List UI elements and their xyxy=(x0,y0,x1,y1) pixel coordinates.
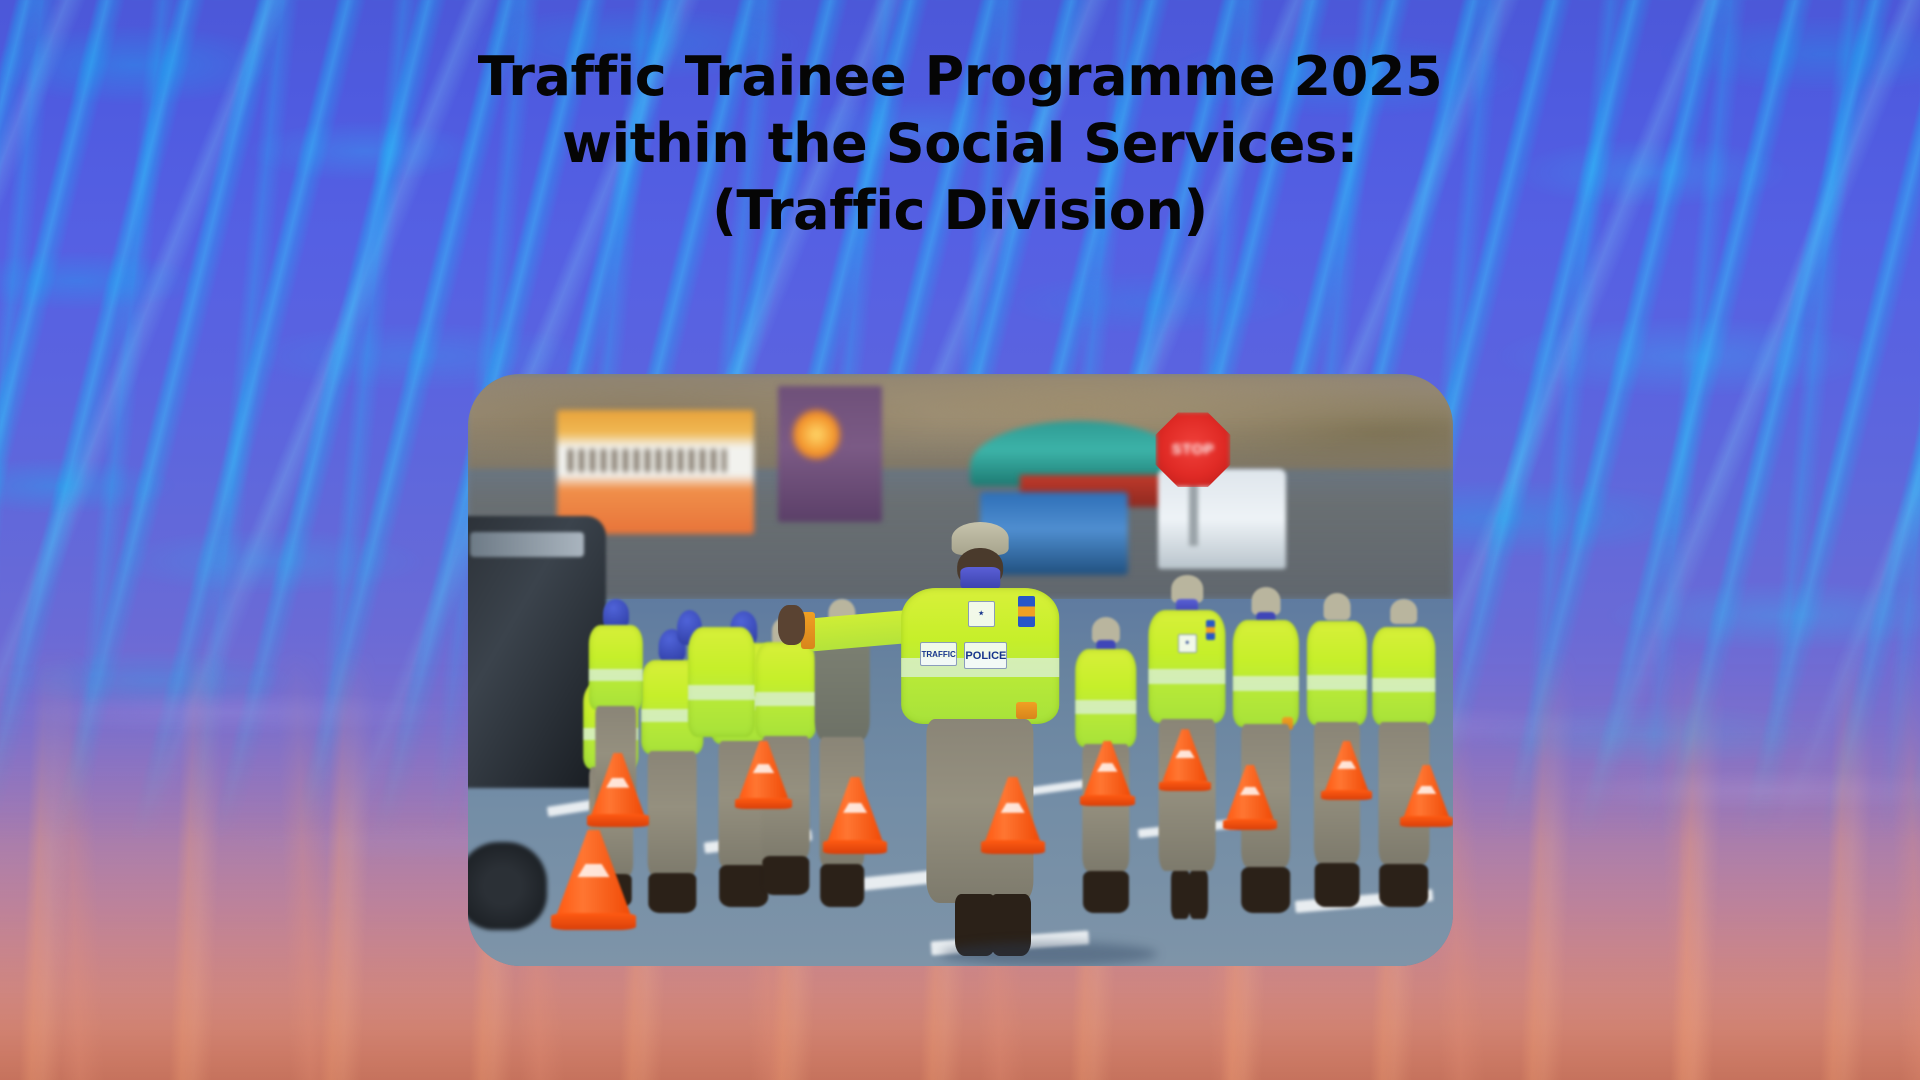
title-line-3: (Traffic Division) xyxy=(0,178,1920,245)
boots xyxy=(762,856,809,895)
vest-badge: ★ xyxy=(1178,634,1197,653)
boots xyxy=(1083,871,1129,912)
hi-vis-vest xyxy=(755,642,816,739)
traffic-cone xyxy=(1404,765,1449,827)
traffic-cone xyxy=(591,753,644,827)
pointing-hand xyxy=(778,605,805,644)
cone-base xyxy=(1400,816,1453,827)
foreground-traffic-officer: ★ POLICE TRAFFIC xyxy=(901,522,1059,960)
cone-base xyxy=(1223,819,1278,830)
traffic-cone xyxy=(828,777,883,854)
boots xyxy=(649,873,696,913)
cone-base xyxy=(1080,795,1135,806)
hi-vis-vest xyxy=(1075,649,1136,747)
cone-base xyxy=(587,814,649,827)
traffic-cone xyxy=(1084,741,1131,806)
poster-title: Traffic Trainee Programme 2025 within th… xyxy=(0,44,1920,245)
vest-label-police: POLICE xyxy=(964,642,1007,668)
car-tire xyxy=(468,842,547,931)
cone-base xyxy=(1159,781,1212,792)
poster-canvas: Traffic Trainee Programme 2025 within th… xyxy=(0,0,1920,1080)
traffic-cone xyxy=(1226,765,1273,830)
hi-vis-vest xyxy=(1372,627,1435,726)
traffic-officers-photo: STOP xyxy=(468,374,1453,966)
cone-base xyxy=(823,840,887,853)
cap-icon xyxy=(1390,599,1418,624)
title-line-1: Traffic Trainee Programme 2025 xyxy=(0,44,1920,111)
officer-shadow xyxy=(941,942,1158,966)
traffic-cone xyxy=(1162,729,1207,791)
purple-shop-sign xyxy=(778,386,881,522)
hi-vis-vest xyxy=(1233,620,1299,727)
traffic-cone xyxy=(739,741,788,809)
officer-figure xyxy=(1231,587,1300,913)
title-line-2: within the Social Services: xyxy=(0,111,1920,178)
boots xyxy=(1379,864,1429,907)
boots xyxy=(1241,867,1291,913)
hi-vis-vest xyxy=(589,625,643,710)
cap-icon xyxy=(1324,593,1351,620)
cone-base xyxy=(551,913,637,930)
stop-sign-label: STOP xyxy=(1172,441,1215,458)
boots xyxy=(820,864,864,907)
hi-vis-vest xyxy=(1307,621,1367,725)
boots xyxy=(1189,871,1208,919)
officer-figure xyxy=(1369,599,1438,907)
boots xyxy=(1315,863,1360,907)
shoulder-flag-patch xyxy=(1018,596,1035,627)
cone-base xyxy=(1321,790,1371,800)
traffic-cone xyxy=(557,830,631,931)
cap-icon xyxy=(1092,617,1120,644)
cone-base xyxy=(735,798,792,810)
arm-cuff-right xyxy=(1016,702,1036,720)
traffic-cone xyxy=(985,777,1040,854)
traffic-cone xyxy=(1325,741,1368,800)
boots xyxy=(1171,871,1190,919)
vest-label-traffic: TRAFFIC xyxy=(920,642,957,666)
photo-scene: STOP xyxy=(468,374,1453,966)
vest-shoulder-badge: ★ xyxy=(968,601,995,627)
shoulder-flag-patch xyxy=(1206,620,1215,641)
hi-vis-vest xyxy=(688,627,755,737)
cone-base xyxy=(981,840,1045,853)
